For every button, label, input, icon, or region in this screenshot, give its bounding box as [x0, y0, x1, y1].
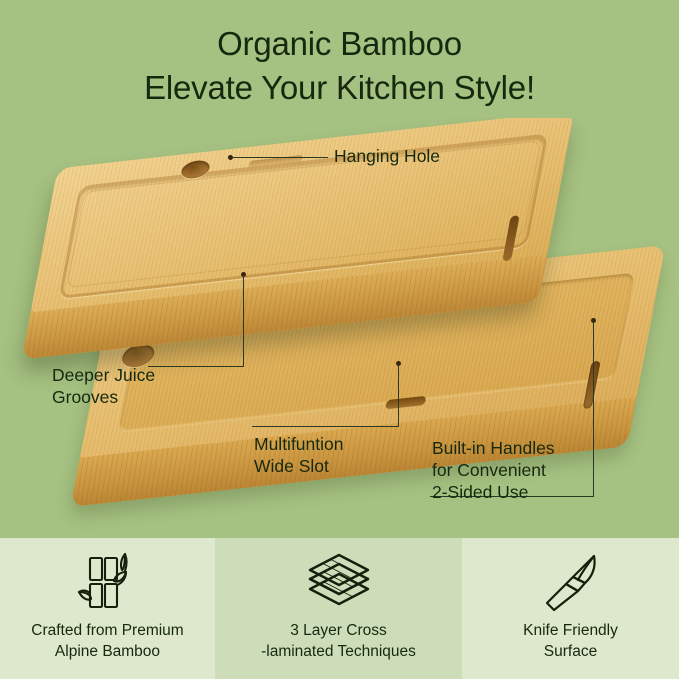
- title-line-2: Elevate Your Kitchen Style!: [0, 66, 679, 110]
- callout-wide-slot: Multifuntion Wide Slot: [254, 433, 344, 477]
- leader-line-slot-vertical: [398, 364, 399, 426]
- layers-stack-icon: [306, 552, 372, 614]
- feature-strip: Crafted from Premium Alpine Bamboo 3 Lay…: [0, 538, 679, 679]
- feature-layers-label: 3 Layer Cross -laminated Techniques: [261, 620, 416, 662]
- callout-handles: Built-in Handles for Convenient 2-Sided …: [432, 437, 555, 503]
- bamboo-stalk-icon: [76, 552, 140, 614]
- title-line-1: Organic Bamboo: [0, 22, 679, 66]
- callout-hanging-hole: Hanging Hole: [334, 145, 440, 167]
- chef-knife-icon: [540, 552, 602, 614]
- leader-line-handles-vertical: [593, 321, 594, 497]
- feature-bamboo-label: Crafted from Premium Alpine Bamboo: [31, 620, 183, 662]
- leader-line-juice-vertical: [243, 275, 244, 367]
- feature-knife-label: Knife Friendly Surface: [523, 620, 618, 662]
- feature-layers: 3 Layer Cross -laminated Techniques: [215, 538, 462, 679]
- leader-line-slot-horizontal: [252, 426, 399, 427]
- product-infographic: Organic Bamboo Elevate Your Kitchen Styl…: [0, 0, 679, 679]
- callout-juice-grooves: Deeper Juice Grooves: [52, 364, 155, 408]
- feature-bamboo: Crafted from Premium Alpine Bamboo: [0, 538, 215, 679]
- page-title: Organic Bamboo Elevate Your Kitchen Styl…: [0, 22, 679, 110]
- leader-line-hanging-hole: [232, 157, 328, 158]
- feature-knife: Knife Friendly Surface: [462, 538, 679, 679]
- leader-line-juice-horizontal: [148, 366, 244, 367]
